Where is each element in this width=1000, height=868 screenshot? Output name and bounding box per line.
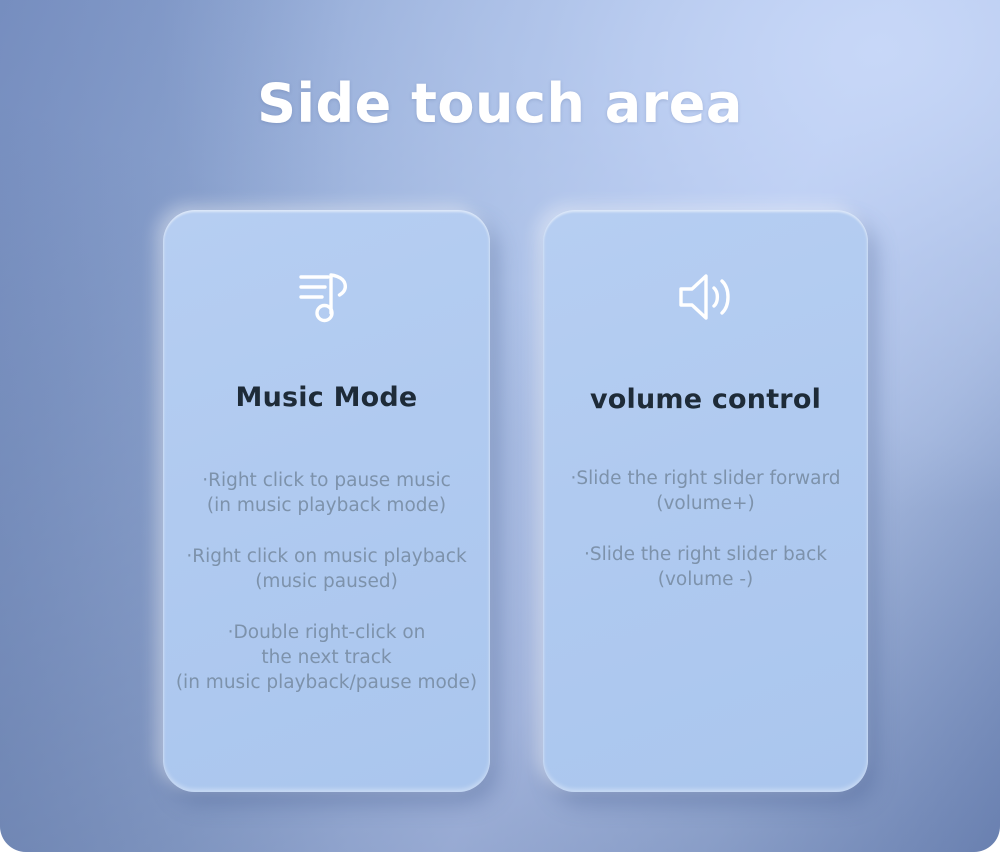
card-line: ·Right click to pause music (in music pl… bbox=[163, 468, 490, 518]
card-body-music-mode: ·Right click to pause music (in music pl… bbox=[163, 468, 490, 695]
screenshot-root: Side touch area Music Mode ·Right click … bbox=[0, 0, 1000, 868]
page-title: Side touch area bbox=[0, 72, 1000, 135]
speaker-volume-icon bbox=[543, 262, 868, 332]
feature-card-list: Music Mode ·Right click to pause music (… bbox=[0, 210, 1000, 800]
card-line: ·Double right-click on the next track (i… bbox=[163, 620, 490, 695]
card-body-volume-control: ·Slide the right slider forward (volume+… bbox=[543, 466, 868, 592]
feature-card-volume-control[interactable]: volume control ·Slide the right slider f… bbox=[543, 210, 868, 792]
card-line: ·Slide the right slider back (volume -) bbox=[543, 542, 868, 592]
music-playlist-icon bbox=[163, 262, 490, 332]
card-line: ·Slide the right slider forward (volume+… bbox=[543, 466, 868, 516]
card-heading-music-mode: Music Mode bbox=[163, 382, 490, 413]
card-heading-volume-control: volume control bbox=[543, 384, 868, 415]
feature-card-music-mode[interactable]: Music Mode ·Right click to pause music (… bbox=[163, 210, 490, 792]
card-line: ·Right click on music playback (music pa… bbox=[163, 544, 490, 594]
